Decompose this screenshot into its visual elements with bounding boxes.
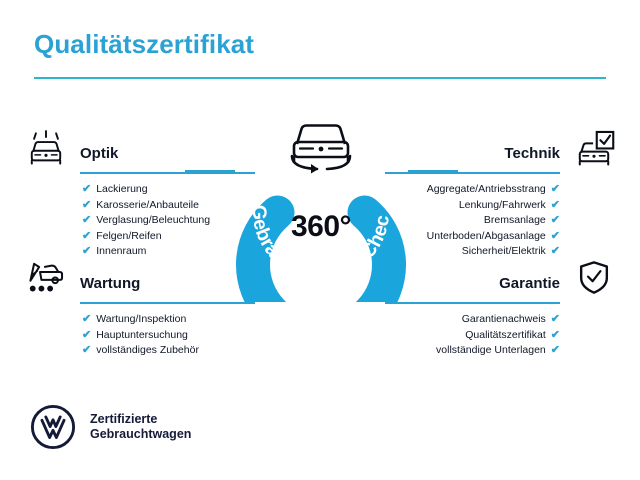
check-icon: ✔ <box>82 314 91 325</box>
check-icon: ✔ <box>82 184 91 195</box>
list-item-label: Verglasung/Beleuchtung <box>96 213 210 229</box>
list-item: Qualitätszertifikat✔ <box>393 328 618 344</box>
footer-line-1: Zertifizierte <box>90 412 191 427</box>
list-item: Unterboden/Abgasanlage✔ <box>393 229 618 245</box>
list-item-label: Aggregate/Antriebsstrang <box>427 182 546 198</box>
vw-logo <box>30 404 76 450</box>
check-icon: ✔ <box>551 184 560 195</box>
checklist-optik: ✔Lackierung ✔Karosserie/Anbauteile ✔Verg… <box>22 182 247 260</box>
list-item: vollständige Unterlagen✔ <box>393 343 618 359</box>
list-item: Lenkung/Fahrwerk✔ <box>393 198 618 214</box>
check-icon: ✔ <box>551 231 560 242</box>
checklist-garantie: Garantienachweis✔ Qualitätszertifikat✔ v… <box>393 312 618 359</box>
check-icon: ✔ <box>551 215 560 226</box>
check-icon: ✔ <box>82 246 91 257</box>
check-icon: ✔ <box>551 314 560 325</box>
list-item-label: Garantienachweis <box>462 312 546 328</box>
footer-line-2: Gebrauchtwagen <box>90 427 191 442</box>
check-icon: ✔ <box>82 231 91 242</box>
section-divider-wartung <box>80 302 255 304</box>
list-item-label: Felgen/Reifen <box>96 229 161 245</box>
check-icon: ✔ <box>82 330 91 341</box>
checklist-wartung: ✔Wartung/Inspektion ✔Hauptuntersuchung ✔… <box>22 312 247 359</box>
shield-check-icon <box>570 258 618 298</box>
list-item: ✔Lackierung <box>22 182 247 198</box>
list-item: Bremsanlage✔ <box>393 213 618 229</box>
badge-360-gebrauchtwagen-check: Gebrauchtwagen-Check 360° <box>229 118 413 302</box>
checklist-technik: Aggregate/Antriebsstrang✔ Lenkung/Fahrwe… <box>393 182 618 260</box>
page-header: Qualitätszertifikat <box>34 30 606 79</box>
list-item-label: vollständiges Zubehör <box>96 343 199 359</box>
section-technik: Technik Aggregate/Antriebsstrang✔ Lenkun… <box>393 128 618 260</box>
list-item-label: Lenkung/Fahrwerk <box>459 198 546 214</box>
list-item-label: vollständige Unterlagen <box>436 343 546 359</box>
list-item-label: Qualitätszertifikat <box>465 328 546 344</box>
list-item: ✔Wartung/Inspektion <box>22 312 247 328</box>
list-item-label: Karosserie/Anbauteile <box>96 198 199 214</box>
check-icon: ✔ <box>82 200 91 211</box>
section-optik: Optik ✔Lackierung ✔Karosserie/Anbauteile… <box>22 128 247 260</box>
check-icon: ✔ <box>551 200 560 211</box>
car-checkbox-icon <box>570 128 618 168</box>
list-item: ✔Felgen/Reifen <box>22 229 247 245</box>
section-wartung: Wartung ✔Wartung/Inspektion ✔Hauptunters… <box>22 258 247 359</box>
car-shine-icon <box>22 128 70 168</box>
check-icon: ✔ <box>82 215 91 226</box>
list-item-label: Hauptuntersuchung <box>96 328 188 344</box>
list-item: ✔vollständiges Zubehör <box>22 343 247 359</box>
section-title-optik: Optik <box>80 145 118 162</box>
page-title: Qualitätszertifikat <box>34 30 606 59</box>
list-item: ✔Hauptuntersuchung <box>22 328 247 344</box>
check-icon: ✔ <box>82 345 91 356</box>
footer-brand: Zertifizierte Gebrauchtwagen <box>30 404 191 450</box>
section-title-technik: Technik <box>504 145 560 162</box>
list-item: Garantienachweis✔ <box>393 312 618 328</box>
list-item: ✔Karosserie/Anbauteile <box>22 198 247 214</box>
section-title-wartung: Wartung <box>80 275 140 292</box>
section-divider-garantie <box>385 302 560 304</box>
footer-text: Zertifizierte Gebrauchtwagen <box>90 412 191 442</box>
check-icon: ✔ <box>551 246 560 257</box>
check-icon: ✔ <box>551 330 560 341</box>
list-item: Aggregate/Antriebsstrang✔ <box>393 182 618 198</box>
section-title-garantie: Garantie <box>499 275 560 292</box>
list-item-label: Bremsanlage <box>484 213 546 229</box>
car-service-pen-icon <box>22 258 70 298</box>
list-item-label: Lackierung <box>96 182 147 198</box>
check-icon: ✔ <box>551 345 560 356</box>
section-garantie: Garantie Garantienachweis✔ Qualitätszert… <box>393 258 618 359</box>
list-item: ✔Verglasung/Beleuchtung <box>22 213 247 229</box>
certificate-page: Qualitätszertifikat <box>0 0 640 480</box>
badge-center-label: 360° <box>229 210 413 244</box>
list-item-label: Wartung/Inspektion <box>96 312 186 328</box>
list-item-label: Unterboden/Abgasanlage <box>427 229 546 245</box>
title-divider <box>34 77 606 79</box>
